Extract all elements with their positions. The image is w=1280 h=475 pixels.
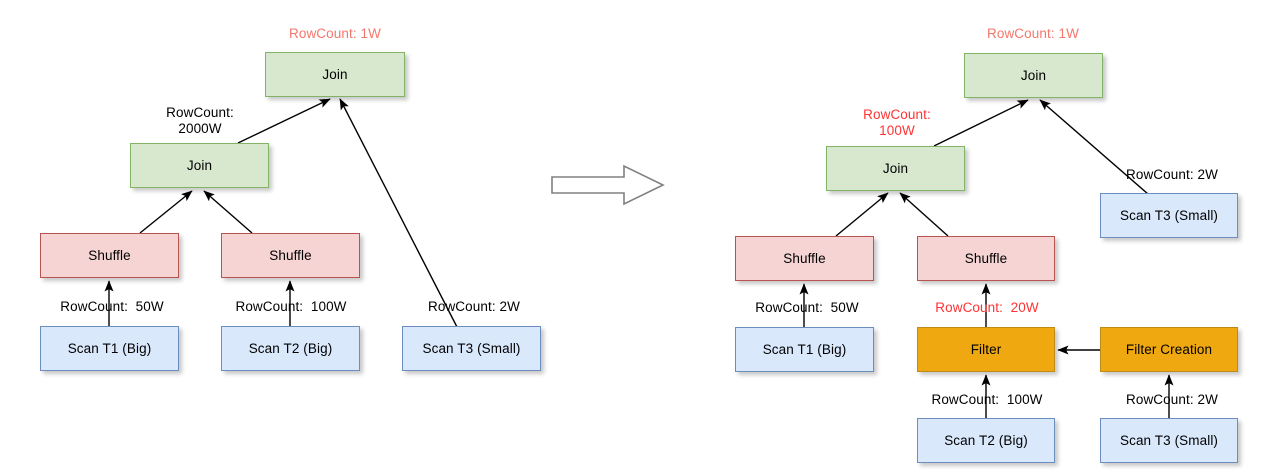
edge-label-r-lbl-t3-top: RowCount: 2W — [1108, 167, 1236, 183]
edge-r-shuffle-2-to-r-join-mid — [900, 193, 948, 236]
node-label: Filter Creation — [1126, 342, 1212, 357]
node-label: Scan T3 (Small) — [422, 341, 520, 356]
edge-label-r-lbl-t1: RowCount: 50W — [742, 300, 872, 316]
node-l-join-top[interactable]: Join — [265, 52, 405, 97]
node-l-scan-t3[interactable]: Scan T3 (Small) — [402, 326, 541, 371]
node-label: Scan T1 (Big) — [763, 342, 847, 357]
node-label: Join — [1021, 68, 1046, 83]
node-label: Scan T2 (Big) — [944, 433, 1028, 448]
transformation-arrow-icon — [550, 163, 666, 207]
node-label: Filter — [971, 342, 1002, 357]
node-label: Shuffle — [783, 251, 826, 266]
node-label: Scan T2 (Big) — [249, 341, 333, 356]
edge-label-l-lbl-t3: RowCount: 2W — [410, 299, 538, 315]
node-label: Join — [883, 161, 908, 176]
node-r-join-mid[interactable]: Join — [826, 146, 965, 191]
edge-label-l-lbl-top: RowCount: 1W — [273, 26, 397, 42]
node-label: Scan T1 (Big) — [68, 341, 152, 356]
node-r-scan-t3-bot[interactable]: Scan T3 (Small) — [1100, 418, 1238, 463]
node-r-filter-create[interactable]: Filter Creation — [1100, 327, 1238, 372]
edge-label-l-lbl-t1: RowCount: 50W — [47, 299, 177, 315]
node-r-shuffle-2[interactable]: Shuffle — [917, 236, 1055, 281]
edge-label-l-lbl-t2: RowCount: 100W — [222, 299, 360, 315]
edge-l-shuffle-1-to-l-join-mid — [140, 191, 192, 233]
edge-label-l-lbl-mid: RowCount: 2000W — [138, 105, 262, 137]
node-label: Shuffle — [965, 251, 1008, 266]
node-label: Shuffle — [88, 248, 131, 263]
edge-l-scan-t3-to-l-join-top — [340, 99, 457, 327]
node-label: Join — [187, 158, 212, 173]
node-l-scan-t2[interactable]: Scan T2 (Big) — [221, 326, 360, 371]
edge-label-r-lbl-mid: RowCount: 100W — [835, 107, 959, 139]
node-r-scan-t2[interactable]: Scan T2 (Big) — [917, 418, 1055, 463]
node-l-shuffle-1[interactable]: Shuffle — [40, 233, 179, 278]
node-l-scan-t1[interactable]: Scan T1 (Big) — [40, 326, 179, 371]
edge-label-r-lbl-t2: RowCount: 100W — [918, 392, 1056, 408]
edge-label-r-lbl-top: RowCount: 1W — [971, 26, 1095, 42]
node-r-scan-t1[interactable]: Scan T1 (Big) — [735, 327, 874, 372]
edge-l-shuffle-2-to-l-join-mid — [204, 191, 252, 233]
node-l-shuffle-2[interactable]: Shuffle — [221, 233, 360, 278]
node-label: Scan T3 (Small) — [1120, 208, 1218, 223]
edge-label-r-lbl-filter: RowCount: 20W — [918, 300, 1056, 316]
diagram-canvas: JoinJoinShuffleShuffleScan T1 (Big)Scan … — [0, 0, 1280, 475]
node-label: Scan T3 (Small) — [1120, 433, 1218, 448]
edge-label-r-lbl-t3-bot: RowCount: 2W — [1108, 392, 1236, 408]
node-label: Join — [322, 67, 347, 82]
edge-r-shuffle-1-to-r-join-mid — [836, 193, 888, 236]
node-l-join-mid[interactable]: Join — [130, 143, 269, 188]
node-r-scan-t3-top[interactable]: Scan T3 (Small) — [1100, 193, 1238, 238]
node-r-shuffle-1[interactable]: Shuffle — [735, 236, 874, 281]
node-r-join-top[interactable]: Join — [964, 53, 1103, 98]
node-r-filter[interactable]: Filter — [917, 327, 1055, 372]
node-label: Shuffle — [269, 248, 312, 263]
